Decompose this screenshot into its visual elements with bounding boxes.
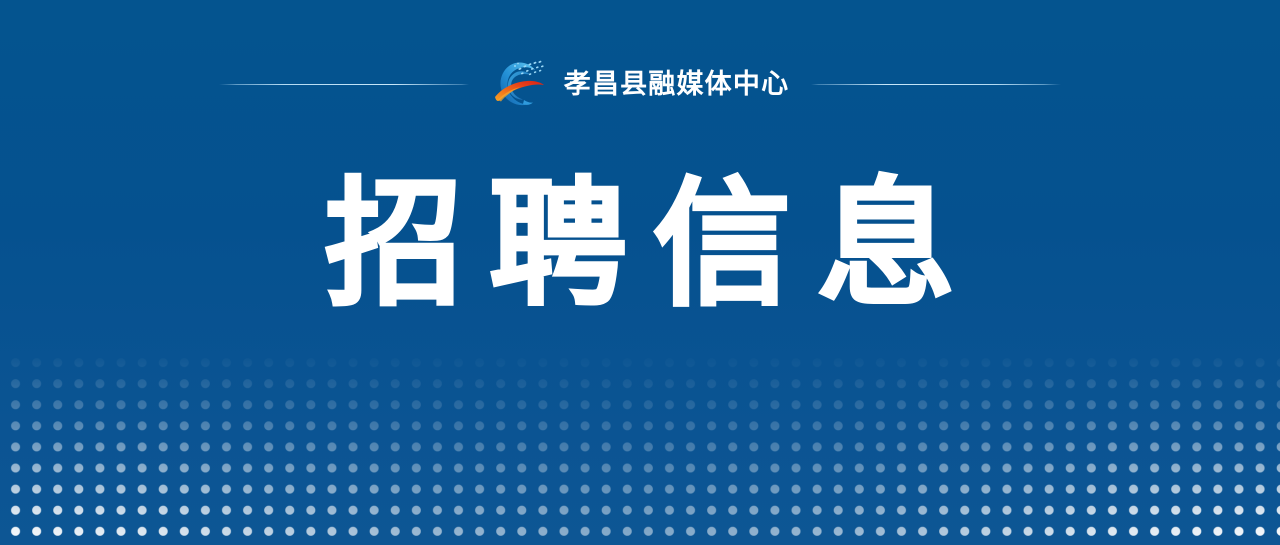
brand-header: 孝昌县融媒体中心: [0, 60, 1280, 108]
rongmedia-swoosh-logo: [491, 57, 551, 111]
divider-line-right: [811, 84, 1061, 85]
page-title: 招聘信息: [299, 172, 981, 318]
recruitment-banner: 孝昌县融媒体中心 招聘信息: [0, 0, 1280, 545]
logo-ring-tail: [523, 100, 533, 105]
brand-lockup: 孝昌县融媒体中心: [469, 57, 812, 111]
hero-section: 招聘信息: [0, 172, 1280, 318]
halftone-dot-grid: [0, 349, 1280, 545]
divider-line-left: [219, 84, 469, 85]
organization-name: 孝昌县融媒体中心: [564, 71, 790, 98]
